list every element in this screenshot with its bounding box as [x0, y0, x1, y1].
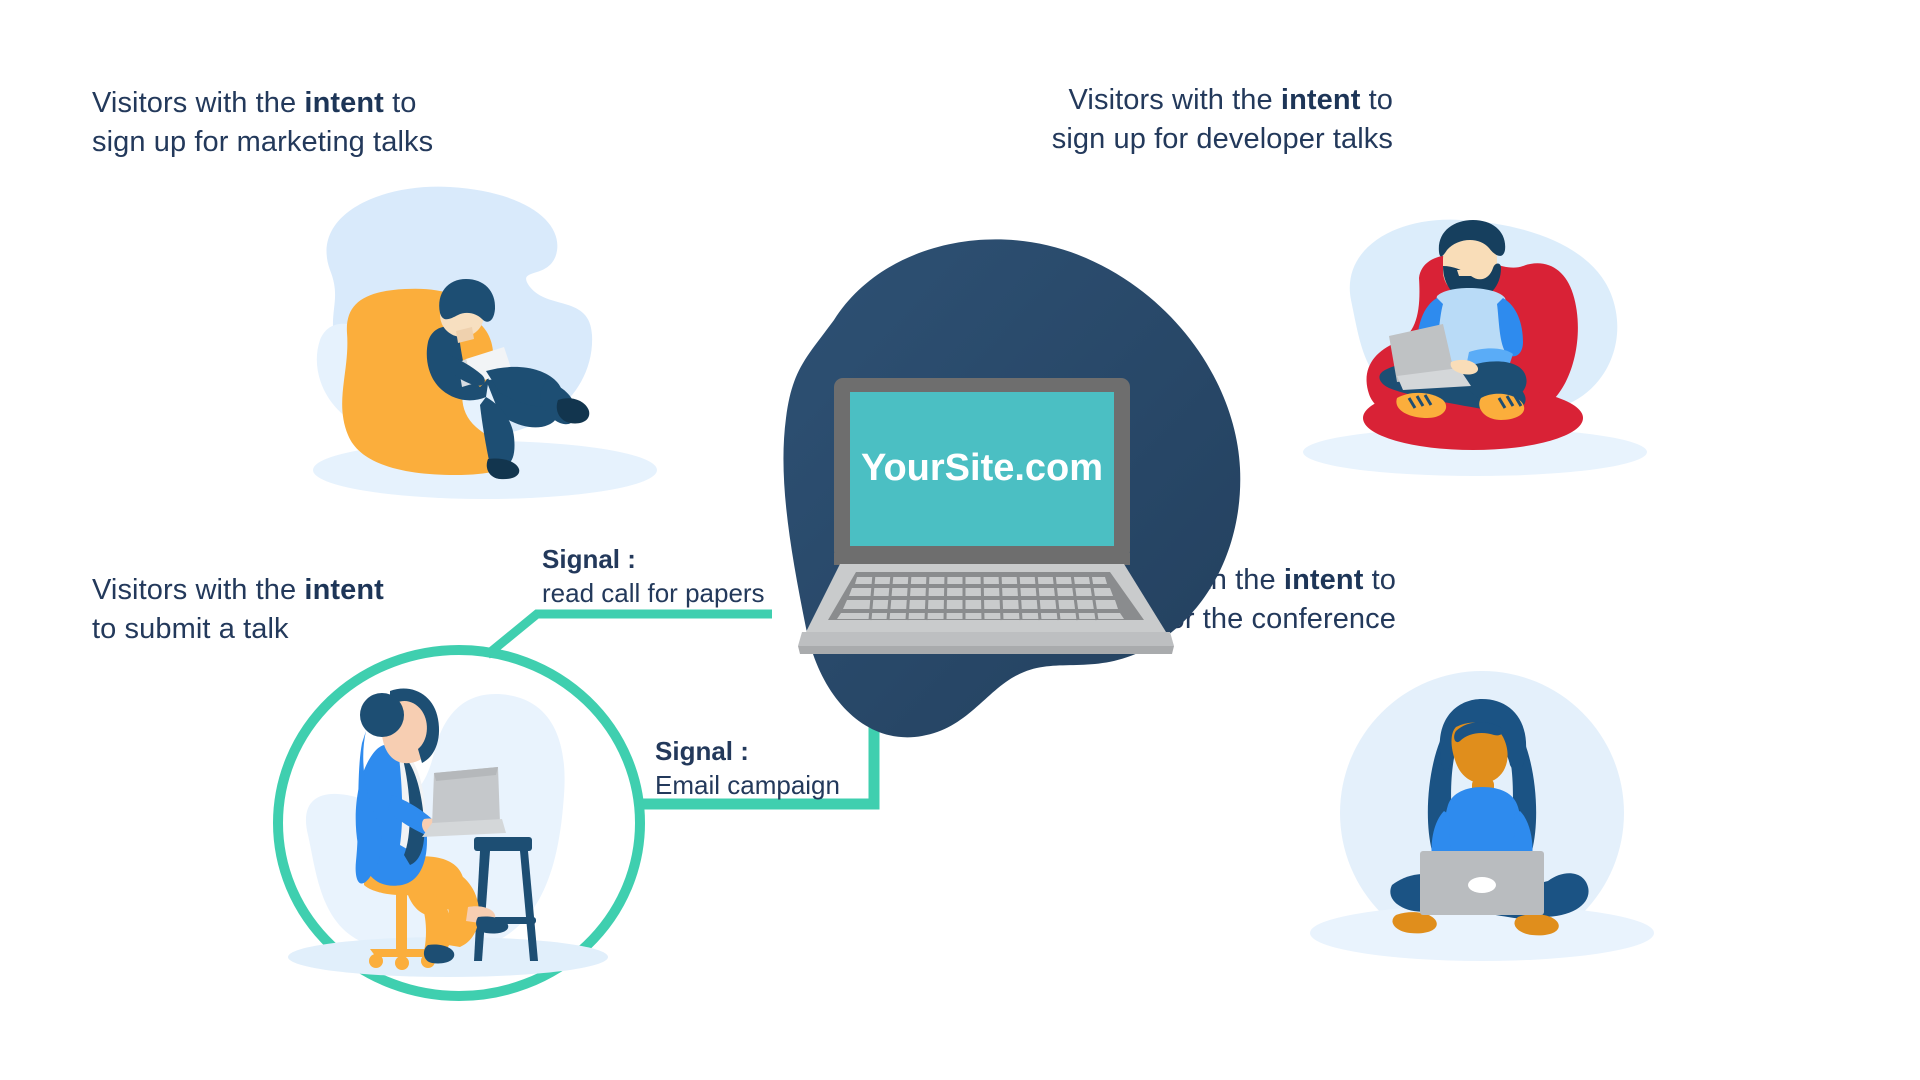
laptop-logo [1468, 877, 1496, 893]
laptop-hinge [834, 553, 1130, 565]
intent-emphasis: intent [1281, 84, 1361, 116]
intent-label-developer-talks: Visitors with the intent to sign up for … [1052, 81, 1393, 158]
screen-site-text: YourSite.com [861, 447, 1103, 489]
intent-label-line1: Visitors with the intent to [1052, 81, 1393, 120]
intent-emphasis: intent [304, 87, 384, 119]
intent-label-suffix: to [384, 87, 417, 119]
signal-title: Signal : [542, 543, 765, 577]
intent-emphasis: intent [1284, 564, 1364, 596]
laptop-front-shadow [798, 646, 1174, 654]
illustration-person-beanbag-reading [290, 175, 680, 515]
intent-label-submit-talk: Visitors with the intent to submit a tal… [92, 571, 384, 648]
center-website-node: YourSite.com [762, 228, 1247, 753]
intent-label-marketing-talks: Visitors with the intent to sign up for … [92, 84, 433, 161]
illustration-woman-standing-desk-laptop [252, 645, 652, 1005]
intent-emphasis: intent [304, 574, 384, 606]
intent-label-suffix: to [1360, 84, 1393, 116]
diagram-canvas: Visitors with the intent to sign up for … [0, 0, 1920, 1080]
signal-body: read call for papers [542, 577, 765, 611]
intent-label-prefix: Visitors with the [92, 87, 304, 119]
intent-label-suffix: to [1363, 564, 1396, 596]
chair-wheel-mid [395, 956, 409, 970]
chair-post [396, 889, 407, 949]
intent-label-line1: Visitors with the intent to [92, 84, 433, 123]
mustache-gap [1457, 270, 1485, 276]
hair-bun [360, 693, 404, 737]
signal-label-read-call-for-papers: Signal : read call for papers [542, 543, 765, 611]
illustration-woman-crosslegged-laptop [1300, 665, 1660, 985]
chair-wheel-left [369, 954, 383, 968]
stool-seat [474, 837, 532, 851]
intent-label-line1: Visitors with the intent [92, 571, 384, 610]
intent-label-line2: sign up for developer talks [1052, 120, 1393, 159]
intent-label-prefix: Visitors with the [92, 574, 304, 606]
intent-label-line2: to submit a talk [92, 610, 384, 649]
intent-label-prefix: Visitors with the [1069, 84, 1281, 116]
intent-label-line2: sign up for marketing talks [92, 123, 433, 162]
signal-body: Email campaign [655, 769, 840, 803]
tshirt [1443, 787, 1523, 861]
laptop-front-lip [798, 632, 1174, 646]
illustration-bearded-man-laptop-red-beanbag [1293, 190, 1658, 485]
